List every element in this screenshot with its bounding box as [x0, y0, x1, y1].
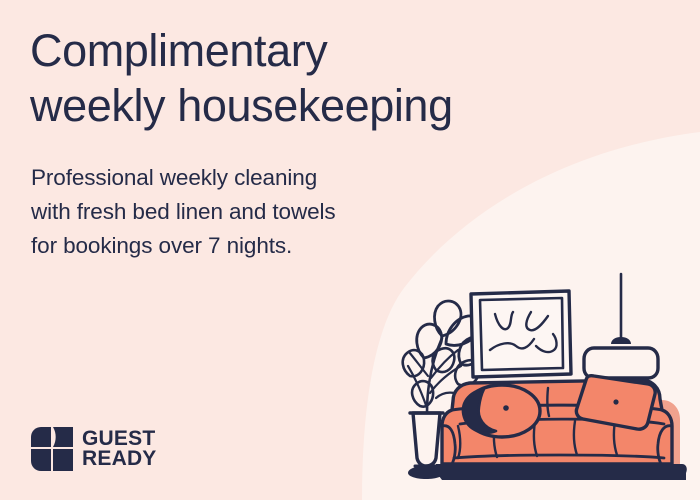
headline: Complimentary weekly housekeeping: [30, 24, 590, 134]
guestready-logo[interactable]: GUEST READY: [31, 426, 157, 472]
cat-icon: [463, 385, 540, 437]
wordmark-line-ready: READY: [82, 449, 157, 469]
guestready-quadrant-mark-icon: [31, 426, 73, 472]
guestready-wordmark: GUEST READY: [82, 429, 157, 469]
living-room-illustration: [398, 258, 698, 500]
promo-card: Complimentary weekly housekeeping Profes…: [0, 0, 700, 500]
subcopy: Professional weekly cleaning with fresh …: [31, 161, 451, 262]
framed-picture-icon: [471, 291, 571, 377]
cushion-icon: [576, 376, 655, 430]
wordmark-line-guest: GUEST: [82, 429, 157, 449]
